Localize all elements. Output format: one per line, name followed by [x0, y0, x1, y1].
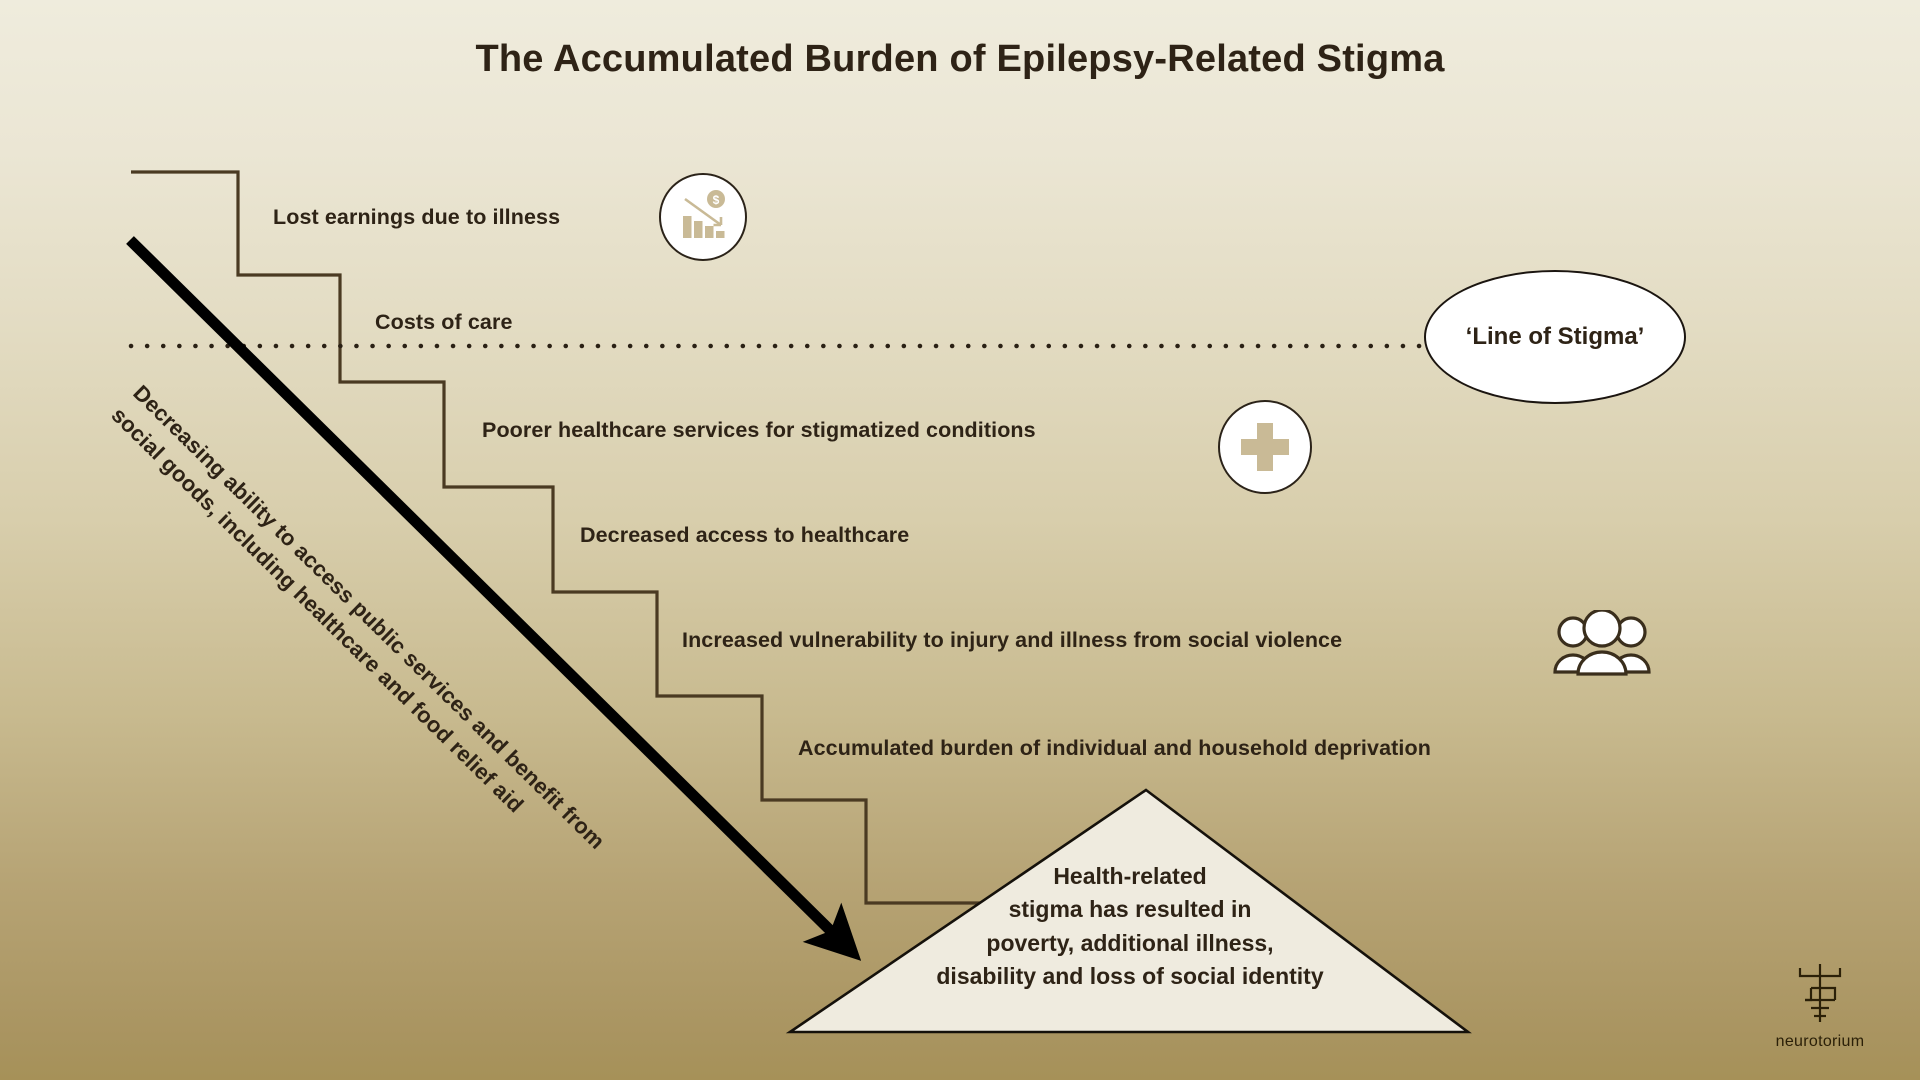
medical-cross-glyph — [1235, 417, 1295, 477]
step-label-costs-of-care: Costs of care — [375, 310, 513, 335]
declining-bar-chart-money-icon: $ — [659, 173, 747, 261]
svg-text:$: $ — [713, 193, 720, 207]
outcome-line-4: disability and loss of social identity — [860, 960, 1400, 993]
medical-cross-icon — [1218, 400, 1312, 494]
step-label-accumulated-burden: Accumulated burden of individual and hou… — [798, 736, 1431, 761]
declining-bar-chart-money-glyph: $ — [672, 186, 734, 248]
neuron-tree-logo-icon — [1787, 960, 1853, 1026]
outcome-line-1: Health-related — [860, 860, 1400, 893]
step-label-increased-vulnerability: Increased vulnerability to injury and il… — [682, 628, 1342, 653]
step-label-decreased-access: Decreased access to healthcare — [580, 523, 909, 548]
line-of-stigma-label: ‘Line of Stigma’ — [1466, 323, 1645, 351]
brand-logo: neurotorium — [1760, 960, 1880, 1051]
outcome-line-2: stigma has resulted in — [860, 893, 1400, 926]
outcome-triangle-text: Health-related stigma has resulted in po… — [860, 860, 1400, 993]
step-label-lost-earnings: Lost earnings due to illness — [273, 205, 560, 230]
step-label-poorer-healthcare: Poorer healthcare services for stigmatiz… — [482, 418, 1036, 443]
outcome-line-3: poverty, additional illness, — [860, 927, 1400, 960]
brand-name: neurotorium — [1760, 1033, 1880, 1051]
group-of-people-icon — [1552, 610, 1652, 678]
group-of-people-glyph — [1552, 610, 1652, 678]
line-of-stigma-bubble: ‘Line of Stigma’ — [1424, 270, 1686, 404]
slide-canvas: The Accumulated Burden of Epilepsy-Relat… — [0, 0, 1920, 1080]
